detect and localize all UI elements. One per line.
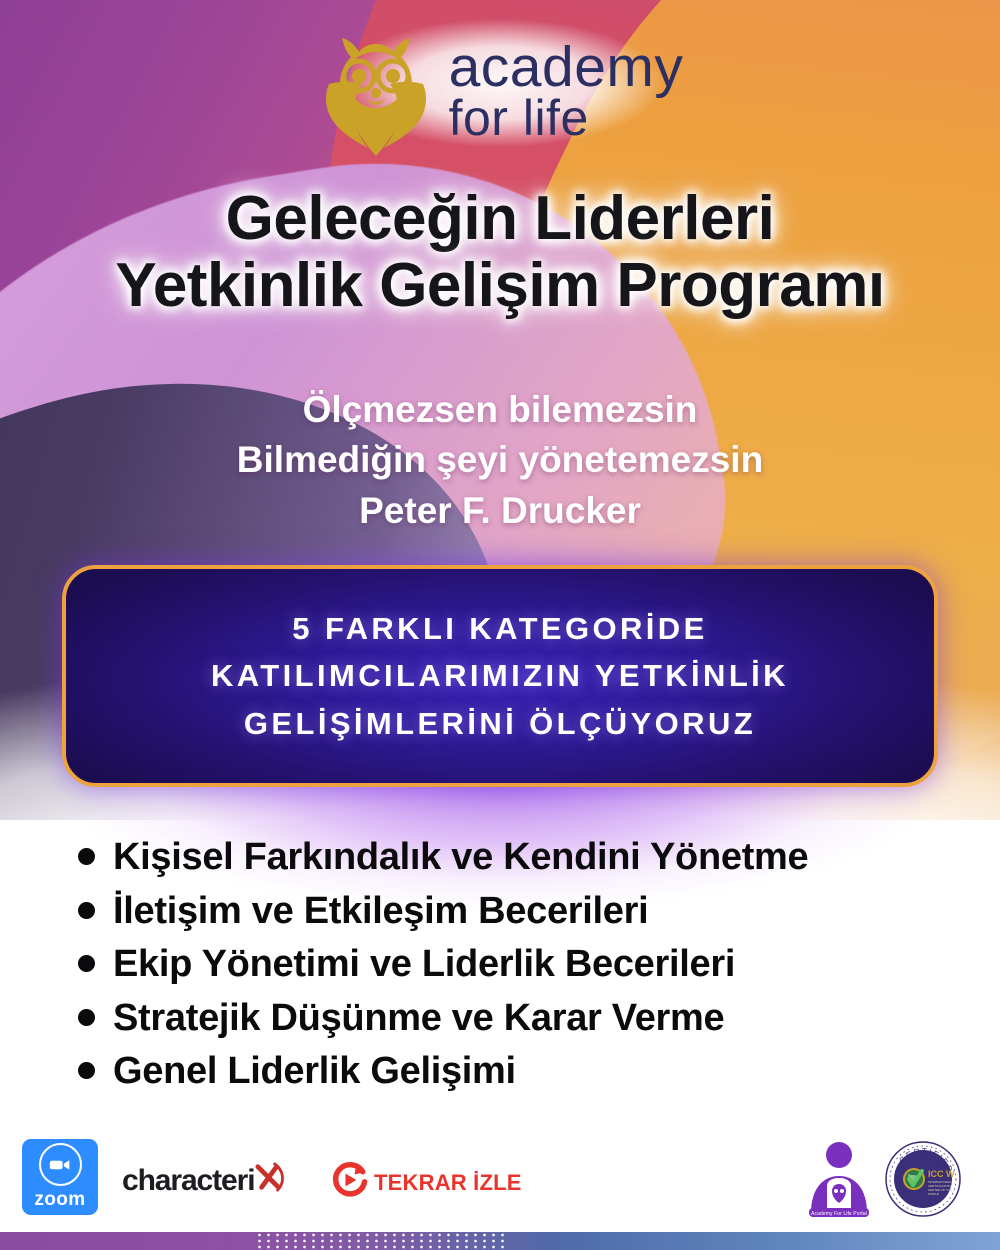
brand-wordmark: academy for life xyxy=(449,41,684,141)
page-title-line2: Yetkinlik Gelişim Programı xyxy=(0,253,1000,320)
banner-line2: KATILIMCILARIMIZIN YETKİNLİK xyxy=(211,652,789,699)
zoom-label: zoom xyxy=(34,1189,85,1211)
brand-name-line1: academy xyxy=(449,41,684,93)
characterix-label: characteri xyxy=(122,1164,254,1198)
strip-dot-pattern xyxy=(255,1232,505,1250)
owl-icon xyxy=(317,26,435,156)
zoom-logo: zoom xyxy=(22,1139,98,1215)
quote-line2: Bilmediğin şeyi yönetemezsin xyxy=(0,435,1000,485)
banner-line3: GELİŞİMLERİNİ ÖLÇÜYORUZ xyxy=(211,700,789,747)
list-item: İletişim ve Etkileşim Becerileri xyxy=(78,890,958,933)
bullet-dot-icon xyxy=(78,902,95,919)
banner-box: 5 FARKLI KATEGORİDE KATILIMCILARIMIZIN Y… xyxy=(62,565,938,787)
brand-logo: academy for life xyxy=(0,26,1000,156)
quote-line1: Ölçmezsen bilemezsin xyxy=(0,385,1000,435)
svg-text:WORLD: WORLD xyxy=(928,1192,940,1196)
banner-text: 5 FARKLI KATEGORİDE KATILIMCILARIMIZIN Y… xyxy=(211,605,789,746)
highlight-banner: 5 FARKLI KATEGORİDE KATILIMCILARIMIZIN Y… xyxy=(62,565,938,787)
bullet-dot-icon xyxy=(78,848,95,865)
list-item: Ekip Yönetimi ve Liderlik Becerileri xyxy=(78,943,958,986)
list-item: Kişisel Farkındalık ve Kendini Yönetme xyxy=(78,836,958,879)
bottom-strip xyxy=(0,1232,1000,1250)
category-label: Kişisel Farkındalık ve Kendini Yönetme xyxy=(113,836,808,879)
category-label: Stratejik Düşünme ve Karar Verme xyxy=(113,997,724,1040)
list-item: Genel Liderlik Gelişimi xyxy=(78,1050,958,1093)
page-title: Geleceğin Liderleri Yetkinlik Gelişim Pr… xyxy=(0,186,1000,320)
brand-name-line2: for life xyxy=(449,95,684,141)
characterix-logo: characteri xyxy=(122,1162,286,1200)
bullet-dot-icon xyxy=(78,1009,95,1026)
portal-caption: Academy For Life Portal xyxy=(805,1211,873,1217)
page-title-line1: Geleceğin Liderleri xyxy=(226,184,775,253)
category-label: İletişim ve Etkileşim Becerileri xyxy=(113,890,648,933)
characterix-x-icon xyxy=(254,1162,286,1200)
bullet-dot-icon xyxy=(78,1062,95,1079)
tekrar-izle-label: TEKRAR İZLE xyxy=(374,1170,522,1196)
quote-author: Peter F. Drucker xyxy=(0,486,1000,536)
video-camera-icon xyxy=(39,1143,82,1186)
portal-logo: Academy For Life Portal xyxy=(805,1138,873,1220)
list-item: Stratejik Düşünme ve Karar Verme xyxy=(78,997,958,1040)
partner-logo-bar: zoom characteri TEKRAR İZLE xyxy=(0,1126,1000,1230)
category-label: Genel Liderlik Gelişimi xyxy=(113,1050,516,1093)
poster-canvas: academy for life Geleceğin Liderleri Yet… xyxy=(0,0,1000,1250)
certified-seal-icon: CERTIFIED ICC W INTERNATIONAL CERTIFICAT… xyxy=(884,1140,962,1218)
category-label: Ekip Yönetimi ve Liderlik Becerileri xyxy=(113,943,735,986)
svg-text:ICC W: ICC W xyxy=(928,1169,955,1179)
quote-block: Ölçmezsen bilemezsin Bilmediğin şeyi yön… xyxy=(0,385,1000,536)
category-list: Kişisel Farkındalık ve Kendini Yönetme İ… xyxy=(78,836,958,1104)
banner-line1: 5 FARKLI KATEGORİDE xyxy=(211,605,789,652)
tekrar-izle-logo: TEKRAR İZLE xyxy=(330,1160,522,1205)
replay-play-icon xyxy=(330,1160,370,1205)
bullet-dot-icon xyxy=(78,955,95,972)
